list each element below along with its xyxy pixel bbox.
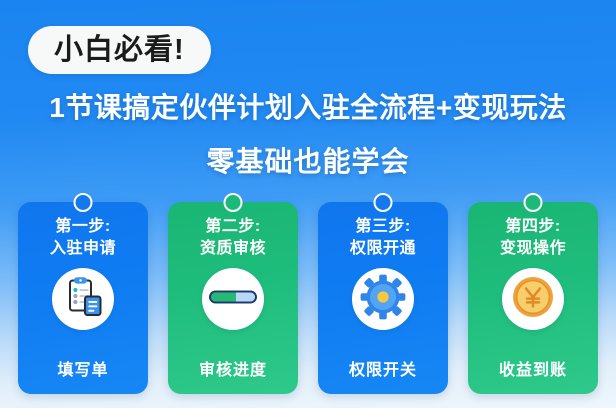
hero-headline: 1节课搞定伙伴计划入驻全流程+变现玩法 bbox=[0, 86, 616, 126]
step-card-4[interactable]: 第四步: 变现操作 收益到账 bbox=[468, 202, 598, 394]
gear-icon bbox=[359, 273, 407, 326]
step-marker-dot-icon bbox=[74, 193, 93, 212]
step-3-icon-container bbox=[352, 268, 414, 330]
step-3-caption: 权限开关 bbox=[318, 356, 448, 380]
step-card-1[interactable]: 第一步: 入驻申请 bbox=[18, 202, 148, 394]
highlight-badge-label: 小白必看! bbox=[54, 36, 185, 65]
clipboard-form-icon bbox=[60, 274, 106, 325]
hero-banner: 小白必看! 1节课搞定伙伴计划入驻全流程+变现玩法 零基础也能学会 bbox=[0, 0, 616, 200]
step-marker-dot-icon bbox=[524, 193, 543, 212]
highlight-badge: 小白必看! bbox=[28, 26, 211, 74]
step-2-number: 第二步: bbox=[205, 217, 260, 237]
step-2-icon-container bbox=[202, 268, 264, 330]
step-3-number: 第三步: bbox=[355, 217, 410, 237]
step-1-icon-container bbox=[52, 268, 114, 330]
step-card-2[interactable]: 第二步: 资质审核 审核进度 bbox=[168, 202, 298, 394]
step-2-title: 资质审核 bbox=[200, 239, 266, 259]
yuan-coin-icon bbox=[511, 275, 555, 324]
step-4-caption: 收益到账 bbox=[468, 356, 598, 380]
step-marker-dot-icon bbox=[374, 193, 393, 212]
step-1-caption: 填写单 bbox=[18, 356, 148, 380]
step-1-number: 第一步: bbox=[55, 217, 110, 237]
step-1-title: 入驻申请 bbox=[50, 239, 116, 259]
hero-subheadline: 零基础也能学会 bbox=[0, 140, 616, 180]
progress-bar-icon bbox=[207, 271, 259, 328]
step-3-title: 权限开通 bbox=[350, 239, 416, 259]
step-2-caption: 审核进度 bbox=[168, 356, 298, 380]
step-4-title: 变现操作 bbox=[500, 239, 566, 259]
step-card-list: 第一步: 入驻申请 bbox=[18, 202, 598, 394]
step-marker-dot-icon bbox=[224, 193, 243, 212]
step-4-number: 第四步: bbox=[505, 217, 560, 237]
step-4-icon-container bbox=[502, 268, 564, 330]
step-card-3[interactable]: 第三步: 权限开通 bbox=[318, 202, 448, 394]
